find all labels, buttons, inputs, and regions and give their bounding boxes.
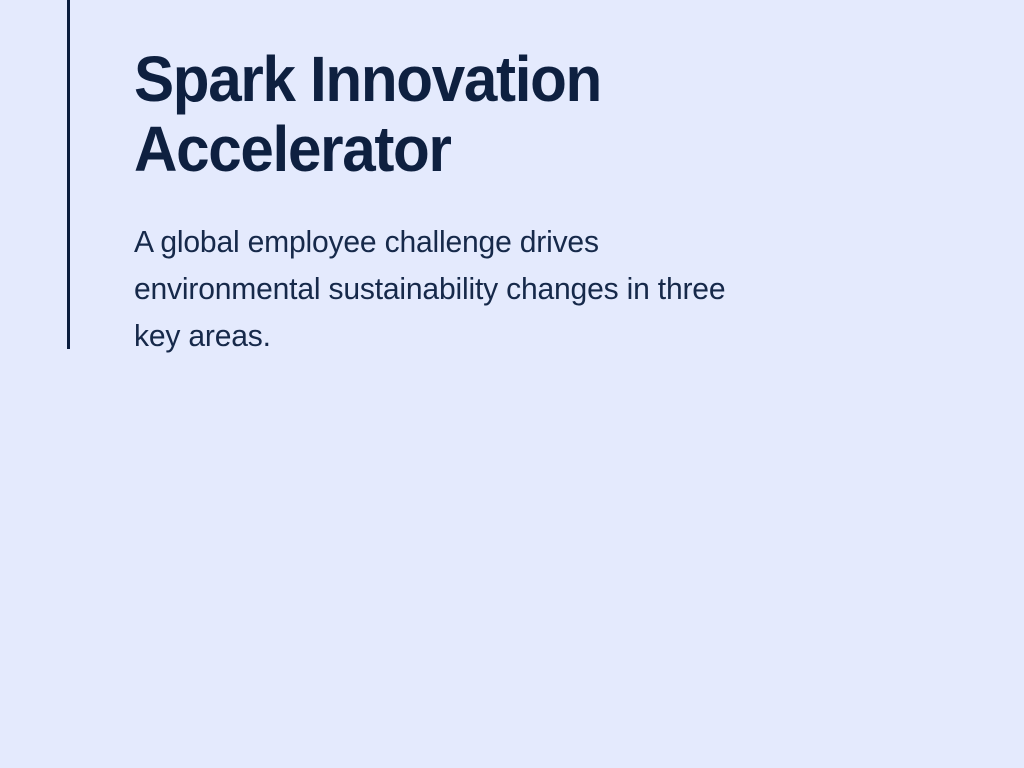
vertical-accent-rule [67,0,70,349]
title-block: Spark Innovation Accelerator [134,44,774,184]
page-subtitle: A global employee challenge drives envir… [134,218,755,359]
subtitle-block: A global employee challenge drives envir… [134,218,774,359]
slide-canvas: Spark Innovation Accelerator A global em… [0,0,1024,768]
page-title: Spark Innovation Accelerator [134,44,736,184]
